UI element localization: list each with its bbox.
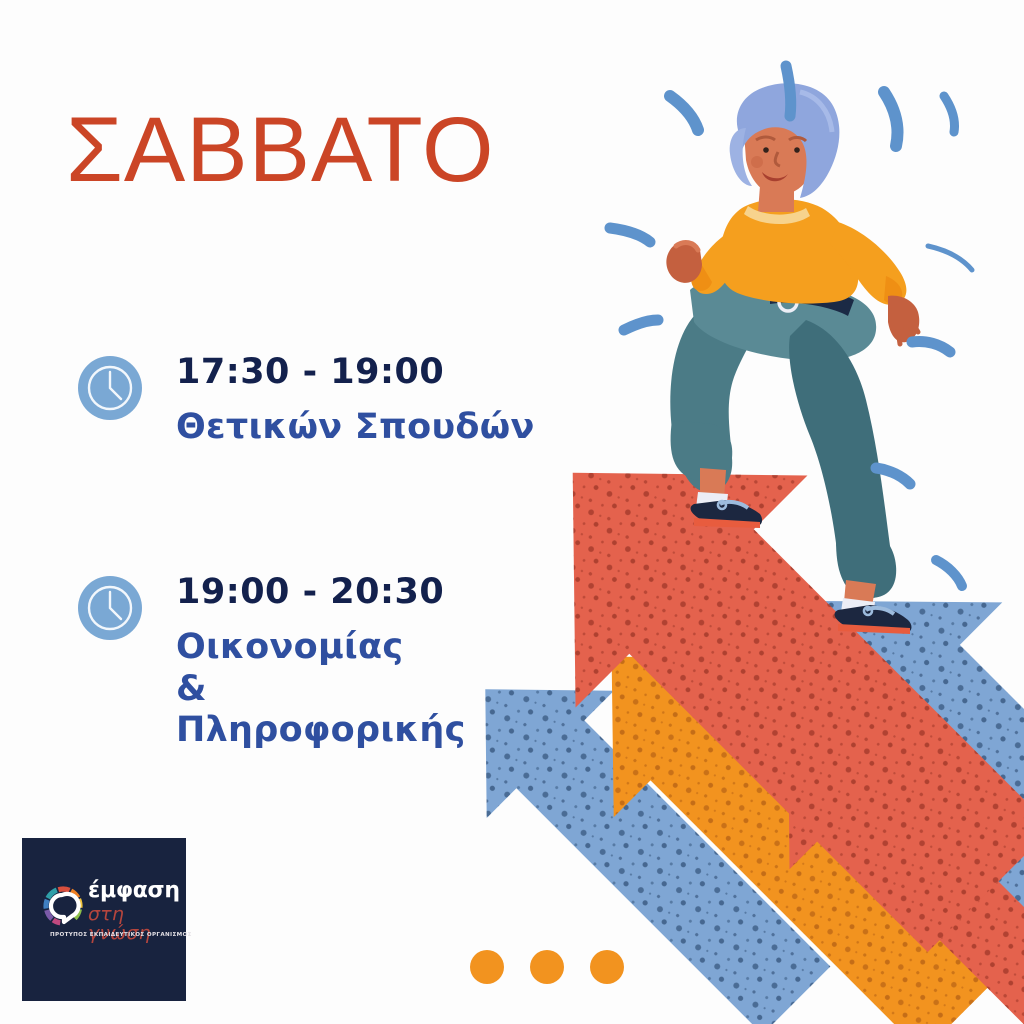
figure-sock-front <box>841 598 875 616</box>
figure-hips <box>690 278 876 360</box>
arrow-blue-right <box>725 509 1024 1024</box>
figure-shoe-back <box>691 500 763 526</box>
poster-canvas: ΣΑΒΒΑΤΟ 17:30 - 19:00 Θετικών Σπουδών 19… <box>0 0 1024 1024</box>
brand-name-primary: έμφαση <box>88 880 180 902</box>
schedule-slot-2-subject-line-2: & <box>176 669 466 710</box>
figure-mouth <box>762 172 788 181</box>
figure-sleeve-left <box>694 226 752 294</box>
figure-sleeve-right <box>830 222 906 305</box>
figure-woman <box>666 83 919 634</box>
schedule-slot-1-subject: Θετικών Σπουδών <box>176 407 535 448</box>
figure-leg-back <box>670 310 762 492</box>
figure-eyebrow-right <box>789 137 806 141</box>
arrow-red-large <box>457 357 1024 1006</box>
schedule-slot-2-subject: Οικονομίας & Πληροφορικής <box>176 627 466 751</box>
brand-logo-inner: έμφαση στη γνώση ΠΡΟΤΥΠΟΣ ΕΚΠΑΙΔΕΥΤΙΚΟΣ … <box>32 880 178 960</box>
motion-dash-3 <box>944 96 955 132</box>
clock-icon <box>78 576 142 640</box>
emphasis-speech-bubble-icon <box>40 884 86 936</box>
clock-icon <box>78 356 142 420</box>
figure-hair <box>737 83 840 198</box>
figure-sock-back <box>696 492 728 510</box>
figure-leg-front <box>789 320 893 598</box>
figure-collar <box>744 206 810 224</box>
motion-dash-8 <box>928 246 972 270</box>
motion-dash-9 <box>936 560 962 586</box>
figure-nose <box>775 152 780 166</box>
motion-dash-6 <box>624 320 658 330</box>
motion-dash-7 <box>912 341 950 352</box>
figure-head <box>744 96 820 195</box>
figure-neck <box>758 186 794 212</box>
motion-dashes <box>610 66 972 586</box>
decorative-dot <box>530 950 564 984</box>
figure-cheek-blush <box>751 156 763 168</box>
decorative-dot <box>590 950 624 984</box>
schedule-slot-2-text: 19:00 - 20:30 Οικονομίας & Πληροφορικής <box>176 572 466 751</box>
schedule-slot-2-time: 19:00 - 20:30 <box>176 572 466 613</box>
motion-dash-1 <box>786 66 791 116</box>
motion-dash-2 <box>884 92 898 146</box>
schedule-slot-1-text: 17:30 - 19:00 Θετικών Σπουδών <box>176 352 535 449</box>
decorative-dot <box>470 950 504 984</box>
figure-shoe-front <box>835 605 912 633</box>
decorative-dots <box>470 950 624 984</box>
schedule-slot-1-time: 17:30 - 19:00 <box>176 352 535 393</box>
figure-eyebrow-left <box>756 137 775 140</box>
brand-tagline: ΠΡΟΤΥΠΟΣ ΕΚΠΑΙΔΕΥΤΙΚΟΣ ΟΡΓΑΝΙΣΜΟΣ <box>50 932 190 938</box>
figure-ankle-front <box>844 580 876 606</box>
figure-eye-right <box>794 147 800 153</box>
schedule-slot-2-subject-line-1: Οικονομίας <box>176 627 466 668</box>
figure-belt-buckle <box>779 293 797 311</box>
page-title: ΣΑΒΒΑΤΟ <box>66 104 495 196</box>
figure-hand-right <box>888 296 919 343</box>
motion-dash-5 <box>610 228 650 242</box>
figure-sweater <box>719 199 858 304</box>
figure-hand-left <box>666 243 702 283</box>
figure-ankle-back <box>700 468 726 500</box>
brand-wordmark: έμφαση στη γνώση ΠΡΟΤΥΠΟΣ ΕΚΠΑΙΔΕΥΤΙΚΟΣ … <box>88 880 180 943</box>
schedule-slot-2-subject-line-3: Πληροφορικής <box>176 710 466 751</box>
figure-eye-left <box>763 147 769 153</box>
brand-logo: έμφαση στη γνώση ΠΡΟΤΥΠΟΣ ΕΚΠΑΙΔΕΥΤΙΚΟΣ … <box>22 838 186 1001</box>
motion-dash-4 <box>670 96 698 130</box>
schedule-slot-1-subject-line-1: Θετικών Σπουδών <box>176 407 535 448</box>
arrow-red-bottom <box>703 613 1024 1024</box>
motion-dash-10 <box>876 468 910 484</box>
figure-belt <box>770 287 854 316</box>
